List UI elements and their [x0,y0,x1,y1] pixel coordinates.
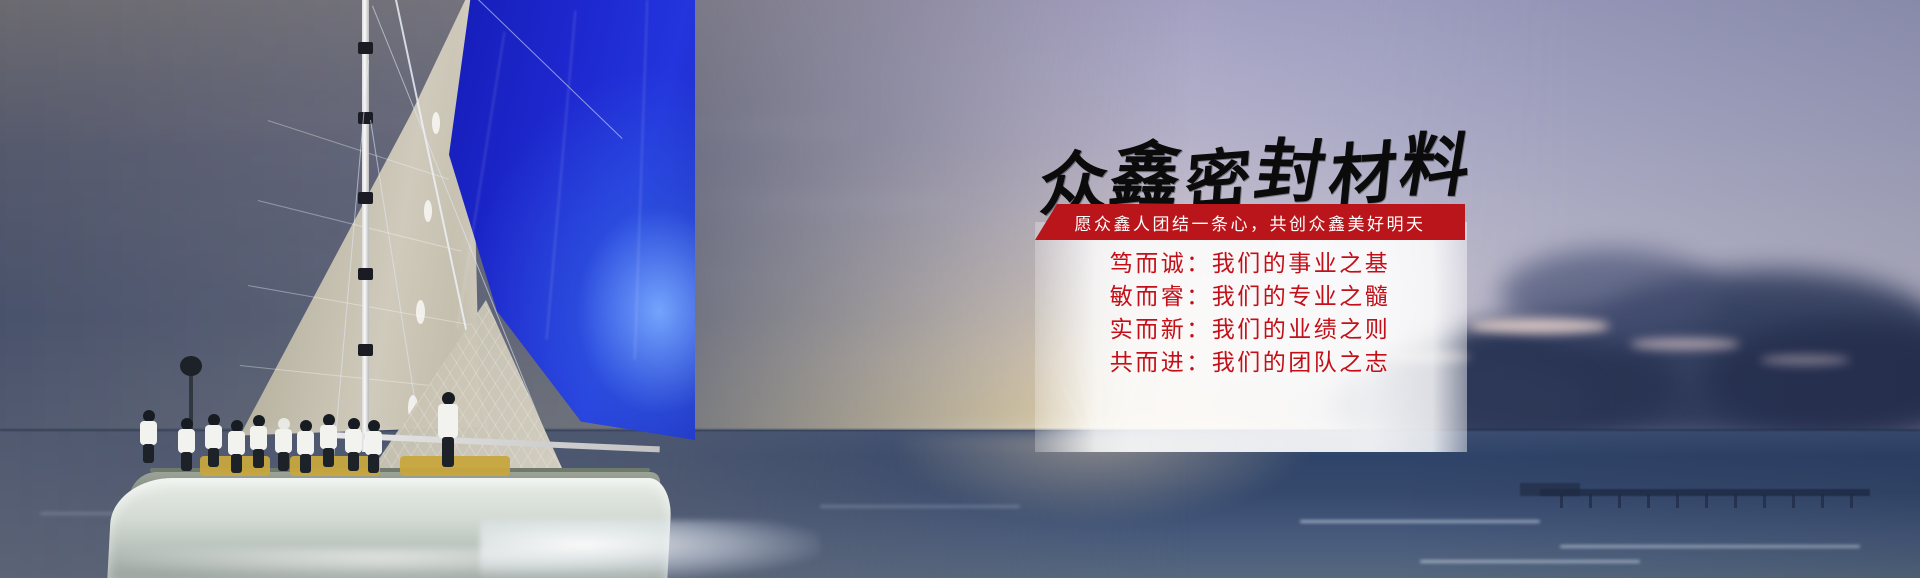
slogan-list: 笃而诚：我们的事业之基 敏而睿：我们的专业之髓 实而新：我们的业绩之则 共而进：… [1035,248,1465,380]
slogan-item: 实而新：我们的业绩之则 [1110,314,1391,347]
crew-member-helmsman [438,392,458,466]
pier-leg [1705,494,1708,508]
wave-streak [1420,560,1640,563]
sail-marker [424,200,432,222]
sail-marker [432,112,440,134]
tagline-text: 愿众鑫人团结一条心，共创众鑫美好明天 [1075,210,1426,235]
crew-member [228,420,245,472]
title-char-4: 封 [1249,116,1337,217]
pier-leg [1618,494,1621,508]
cloud-highlight [1760,355,1850,365]
wave-streak [1300,520,1540,523]
crew-member [297,420,314,472]
pier-leg [1560,494,1563,508]
sailboat [0,0,780,578]
mast-fitting [358,268,373,280]
pier-leg [1676,494,1679,508]
mast-fitting [358,344,373,356]
pier-leg [1734,494,1737,508]
pier-leg [1589,494,1592,508]
crew-member [345,418,362,470]
pier-leg [1821,494,1824,508]
wave-streak [820,505,1020,508]
hero-banner: 众 鑫 密 封 材 料 愿众鑫人团结一条心，共创众鑫美好明天 笃而诚：我们的事业… [0,0,1920,578]
crew-member [365,420,382,472]
crew-member [178,418,195,470]
tagline-ribbon: 愿众鑫人团结一条心，共创众鑫美好明天 [1035,204,1465,240]
crew-member [140,410,157,462]
boat-wake [100,548,660,578]
wave-streak [1560,545,1860,548]
cloud-highlight [1470,318,1610,334]
crew-member [250,415,267,467]
crew-member [320,414,337,466]
crew-member [275,418,292,470]
crew-member [205,414,222,466]
sail-marker [416,300,425,324]
pier-leg [1792,494,1795,508]
slogan-item: 敏而睿：我们的专业之髓 [1110,281,1391,314]
mast-fitting [358,192,373,204]
cloud-highlight [1630,338,1740,350]
pier-leg [1763,494,1766,508]
pier-leg [1647,494,1650,508]
slogan-item: 共而进：我们的团队之志 [1110,347,1391,380]
pier-leg [1850,494,1853,508]
mast-fitting [358,42,373,54]
slogan-item: 笃而诚：我们的事业之基 [1110,248,1391,281]
